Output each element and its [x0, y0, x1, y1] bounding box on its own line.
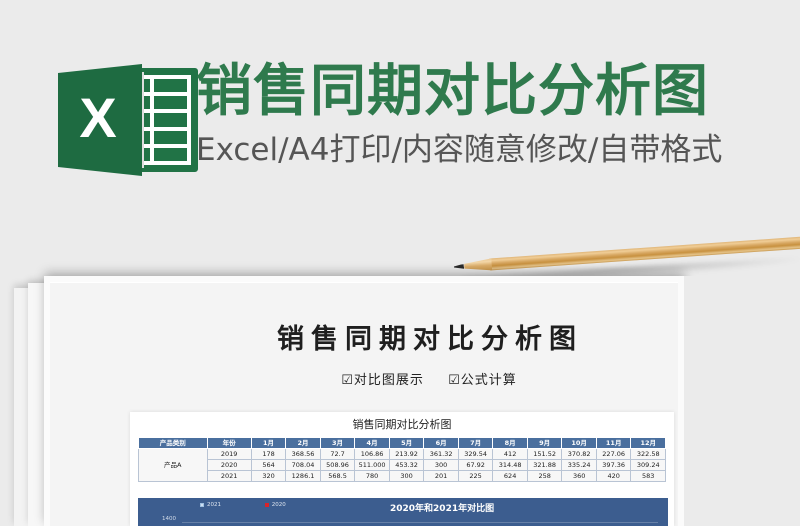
excel-logo-letter: X: [79, 90, 116, 146]
comparison-chart-panel[interactable]: 2021 2020 2020年和2021年对比图 1400: [138, 498, 668, 526]
banner-title: 销售同期对比分析图: [196, 62, 709, 122]
spreadsheet-title: 销售同期对比分析图: [130, 412, 674, 437]
table-header-row: 产品类别 年份 1月 2月 3月 4月 5月 6月 7月 8月 9月 10月 1…: [139, 438, 666, 449]
cell-value[interactable]: 227.06: [596, 449, 631, 460]
legend-swatch-icon: [265, 503, 269, 507]
cell-year[interactable]: 2020: [207, 460, 251, 471]
cell-value[interactable]: 178: [251, 449, 286, 460]
cell-value[interactable]: 72.7: [320, 449, 355, 460]
legend-swatch-icon: [200, 503, 204, 507]
col-header-month[interactable]: 2月: [286, 438, 321, 449]
col-header-month[interactable]: 12月: [631, 438, 666, 449]
cell-value[interactable]: 1286.1: [286, 471, 321, 482]
chart-gridline: [182, 522, 658, 523]
cell-value[interactable]: 568.5: [320, 471, 355, 482]
chart-y-axis-tick: 1400: [162, 516, 176, 522]
table-row[interactable]: 产品A 2019 178 368.56 72.7 106.86 213.92 3…: [139, 449, 666, 460]
col-header-month[interactable]: 4月: [355, 438, 390, 449]
option-label: 对比图展示: [354, 373, 424, 388]
cell-value[interactable]: 320: [251, 471, 286, 482]
legend-item-2021[interactable]: 2021: [200, 502, 221, 508]
cell-value[interactable]: 201: [424, 471, 459, 482]
cell-value[interactable]: 300: [424, 460, 459, 471]
legend-label: 2020: [272, 502, 286, 508]
cell-value[interactable]: 151.52: [527, 449, 562, 460]
cell-value[interactable]: 397.36: [596, 460, 631, 471]
col-header-month[interactable]: 11月: [596, 438, 631, 449]
cell-value[interactable]: 360: [562, 471, 597, 482]
col-header-month[interactable]: 7月: [458, 438, 493, 449]
cell-value[interactable]: 335.24: [562, 460, 597, 471]
legend-item-2020[interactable]: 2020: [265, 502, 286, 508]
col-header-category[interactable]: 产品类别: [139, 438, 208, 449]
table-row[interactable]: 2020 564 708.04 508.96 511.000 453.32 30…: [139, 460, 666, 471]
col-header-month[interactable]: 1月: [251, 438, 286, 449]
cell-value[interactable]: 780: [355, 471, 390, 482]
excel-spreadsheet-icon: X: [58, 64, 198, 176]
cell-value[interactable]: 329.54: [458, 449, 493, 460]
cell-value[interactable]: 420: [596, 471, 631, 482]
legend-label: 2021: [207, 502, 221, 508]
cell-value[interactable]: 225: [458, 471, 493, 482]
screenshot-stage: X 销售同期对比分析图 Excel/A4打印/内容随意修改/自带格式 销售同期对…: [0, 0, 800, 526]
col-header-month[interactable]: 6月: [424, 438, 459, 449]
option-formula-calculation[interactable]: ☑公式计算: [448, 372, 517, 390]
pencil-graphite-tip: [454, 264, 464, 270]
col-header-month[interactable]: 10月: [562, 438, 597, 449]
table-row[interactable]: 2021 320 1286.1 568.5 780 300 201 225 62…: [139, 471, 666, 482]
sales-data-table[interactable]: 产品类别 年份 1月 2月 3月 4月 5月 6月 7月 8月 9月 10月 1…: [138, 437, 666, 482]
cell-year[interactable]: 2021: [207, 471, 251, 482]
checkbox-checked-icon[interactable]: ☑: [341, 373, 354, 388]
cell-category[interactable]: 产品A: [139, 449, 208, 482]
cell-value[interactable]: 106.86: [355, 449, 390, 460]
cell-value[interactable]: 314.48: [493, 460, 528, 471]
option-comparison-chart[interactable]: ☑对比图展示: [341, 372, 424, 390]
cell-value[interactable]: 361.32: [424, 449, 459, 460]
promo-banner: X 销售同期对比分析图 Excel/A4打印/内容随意修改/自带格式: [0, 0, 800, 262]
cell-year[interactable]: 2019: [207, 449, 251, 460]
col-header-month[interactable]: 3月: [320, 438, 355, 449]
cell-value[interactable]: 624: [493, 471, 528, 482]
cell-value[interactable]: 258: [527, 471, 562, 482]
cell-value[interactable]: 564: [251, 460, 286, 471]
cell-value[interactable]: 309.24: [631, 460, 666, 471]
banner-subtitle: Excel/A4打印/内容随意修改/自带格式: [196, 131, 722, 169]
background-right-band: [684, 276, 800, 526]
pencil-sharpened-wood: [461, 258, 492, 272]
cell-value[interactable]: 67.92: [458, 460, 493, 471]
cell-value[interactable]: 370.82: [562, 449, 597, 460]
document-options: ☑对比图展示 ☑公式计算: [0, 372, 800, 390]
cell-value[interactable]: 300: [389, 471, 424, 482]
cell-value[interactable]: 453.32: [389, 460, 424, 471]
cell-value[interactable]: 583: [631, 471, 666, 482]
document-title: 销售同期对比分析图: [0, 324, 800, 356]
cell-value[interactable]: 322.58: [631, 449, 666, 460]
checkbox-checked-icon[interactable]: ☑: [448, 373, 461, 388]
excel-logo-fold: X: [58, 64, 142, 176]
cell-value[interactable]: 368.56: [286, 449, 321, 460]
cell-value[interactable]: 508.96: [320, 460, 355, 471]
cell-value[interactable]: 412: [493, 449, 528, 460]
col-header-month[interactable]: 8月: [493, 438, 528, 449]
cell-value[interactable]: 213.92: [389, 449, 424, 460]
chart-title: 2020年和2021年对比图: [390, 501, 494, 514]
col-header-month[interactable]: 9月: [527, 438, 562, 449]
cell-value[interactable]: 511.000: [355, 460, 390, 471]
cell-value[interactable]: 321.88: [527, 460, 562, 471]
col-header-year[interactable]: 年份: [207, 438, 251, 449]
chart-legend: 2021 2020: [200, 502, 328, 508]
col-header-month[interactable]: 5月: [389, 438, 424, 449]
option-label: 公式计算: [461, 373, 517, 388]
cell-value[interactable]: 708.04: [286, 460, 321, 471]
